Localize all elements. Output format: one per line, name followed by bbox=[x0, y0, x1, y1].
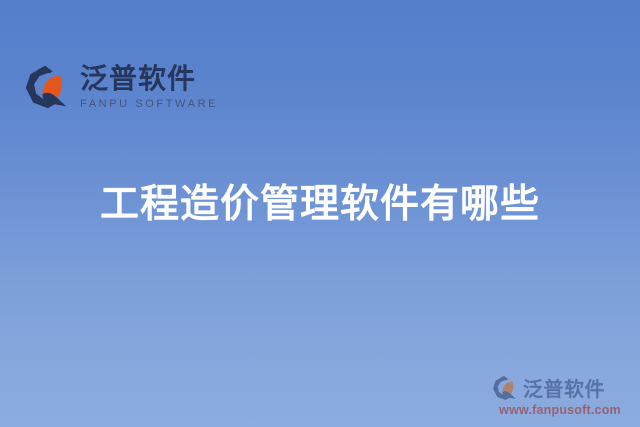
watermark: 泛普软件 www.fanpusoft.com bbox=[492, 373, 628, 417]
brand-lockup: 泛普软件 FANPU SOFTWARE bbox=[24, 64, 218, 110]
watermark-name-cn: 泛普软件 bbox=[523, 373, 605, 402]
brand-name-en: FANPU SOFTWARE bbox=[80, 99, 218, 110]
brand-text: 泛普软件 FANPU SOFTWARE bbox=[80, 65, 218, 110]
watermark-lockup: 泛普软件 bbox=[492, 373, 628, 402]
page-title: 工程造价管理软件有哪些 bbox=[0, 183, 640, 228]
watermark-url: www.fanpusoft.com bbox=[492, 403, 628, 417]
banner: 泛普软件 FANPU SOFTWARE 工程造价管理软件有哪些 泛普软件 www… bbox=[0, 0, 640, 427]
fanpu-logo-icon bbox=[24, 64, 70, 110]
brand-name-cn: 泛普软件 bbox=[80, 65, 218, 93]
fanpu-logo-icon bbox=[492, 375, 518, 401]
